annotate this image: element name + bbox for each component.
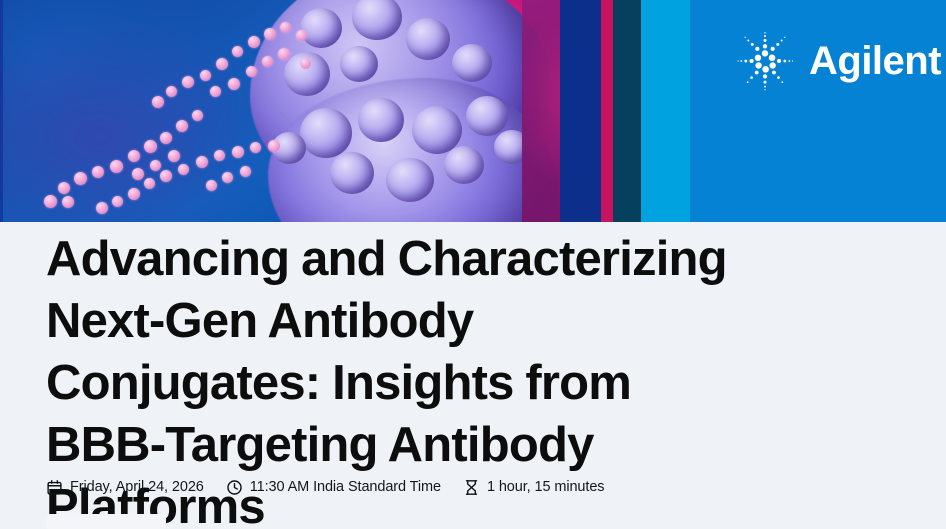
molecule-node: [222, 172, 233, 183]
molecule-node: [176, 120, 188, 132]
molecule-node: [178, 164, 189, 175]
molecule-node: [278, 48, 290, 60]
molecule-node: [128, 150, 140, 162]
molecule-node: [232, 46, 243, 57]
molecule-node: [160, 132, 172, 144]
molecule-node: [144, 140, 157, 153]
molecule-node: [110, 160, 123, 173]
molecule-node: [262, 56, 273, 67]
molecule-node: [232, 146, 244, 158]
molecule-node: [200, 70, 211, 81]
banner-stripe-navy: [613, 0, 641, 222]
protein-lump: [444, 146, 484, 184]
event-date-label: Friday, April 24, 2026: [70, 479, 204, 496]
agilent-wordmark: Agilent: [809, 41, 941, 81]
molecule-node: [246, 66, 257, 77]
molecule-node: [214, 150, 225, 161]
molecule-node: [132, 168, 144, 180]
molecule-node: [248, 36, 260, 48]
molecule-node: [210, 86, 221, 97]
molecule-node: [182, 76, 194, 88]
molecule-node: [216, 58, 228, 70]
protein-lump: [300, 108, 352, 158]
molecule-node: [280, 22, 291, 33]
molecule-node: [166, 86, 177, 97]
protein-lump: [386, 158, 434, 202]
hero-banner: Agilent: [0, 0, 946, 222]
molecule-node: [152, 96, 164, 108]
molecule-node: [62, 196, 74, 208]
below-fold-placeholder: [46, 514, 166, 529]
event-time-label: 11:30 AM India Standard Time: [250, 479, 441, 496]
molecule-node: [74, 172, 87, 185]
artwork-left-edge: [0, 0, 3, 222]
event-details: Advancing and Characterizing Next-Gen An…: [0, 222, 946, 529]
protein-lump: [412, 106, 462, 154]
molecule-node: [228, 78, 240, 90]
event-time: 11:30 AM India Standard Time: [226, 479, 441, 496]
protein-lump: [452, 44, 492, 82]
agilent-logo[interactable]: Agilent: [733, 26, 915, 96]
protein-lump: [300, 8, 342, 48]
molecule-node: [296, 30, 307, 41]
protein-lump: [330, 152, 374, 194]
molecule-node: [150, 160, 161, 171]
molecule-node: [196, 156, 208, 168]
event-meta-row: Friday, April 24, 2026 11:30 AM India St…: [46, 479, 604, 496]
protein-lump: [340, 46, 378, 82]
agilent-starburst-icon: [733, 29, 797, 93]
molecule-node: [144, 178, 155, 189]
molecule-node: [240, 166, 251, 177]
molecule-node: [268, 140, 280, 152]
calendar-icon: [46, 479, 63, 496]
molecule-node: [206, 180, 217, 191]
event-date: Friday, April 24, 2026: [46, 479, 204, 496]
protein-lump: [406, 18, 450, 60]
event-duration: 1 hour, 15 minutes: [463, 479, 605, 496]
banner-stripe-cyan: [641, 0, 690, 222]
banner-artwork: [0, 0, 560, 222]
molecule-node: [44, 195, 57, 208]
molecule-node: [128, 188, 140, 200]
event-duration-label: 1 hour, 15 minutes: [487, 479, 605, 496]
webinar-landing-page: Agilent Advancing and Characterizing Nex…: [0, 0, 946, 529]
molecule-node: [112, 196, 123, 207]
molecule-node: [192, 110, 203, 121]
hourglass-icon: [463, 479, 480, 496]
molecule-node: [250, 142, 261, 153]
molecule-node: [160, 170, 172, 182]
molecule-node: [96, 202, 108, 214]
molecule-node: [168, 150, 180, 162]
molecule-node: [92, 166, 104, 178]
clock-icon: [226, 479, 243, 496]
molecule-node: [264, 28, 276, 40]
banner-stripe-magenta: [601, 0, 613, 222]
molecule-node: [300, 58, 311, 69]
banner-purple-panel: [522, 0, 560, 222]
protein-lump: [358, 98, 404, 142]
protein-lump: [466, 96, 508, 136]
molecule-node: [58, 182, 70, 194]
